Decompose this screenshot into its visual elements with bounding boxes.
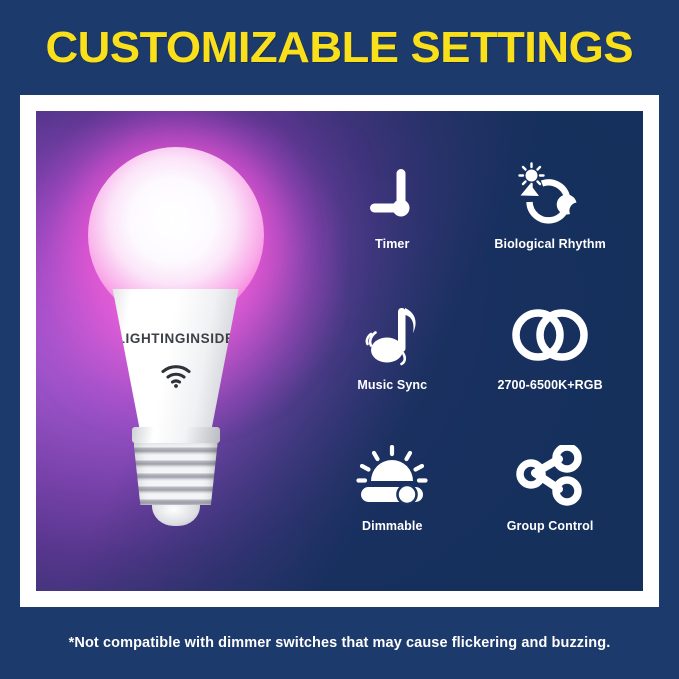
bulb-neck: LIGHTINGINSIDE <box>101 289 251 429</box>
bulb-collar <box>132 427 220 443</box>
clock-timer-icon <box>362 157 422 231</box>
brand-logo: LIGHTINGINSIDE <box>117 331 235 346</box>
page-title: CUSTOMIZABLE SETTINGS <box>46 23 634 73</box>
smart-bulb: LIGHTINGINSIDE <box>88 147 264 526</box>
feature-group-control[interactable]: Group Control <box>471 416 629 557</box>
feature-color-temperature[interactable]: 2700-6500K+RGB <box>471 274 629 415</box>
disclaimer-text: *Not compatible with dimmer switches tha… <box>69 635 611 651</box>
feature-grid: Timer <box>313 111 629 591</box>
feature-label: 2700-6500K+RGB <box>497 378 602 392</box>
feature-dimmable[interactable]: Dimmable <box>313 416 471 557</box>
product-card-frame: LIGHTINGINSIDE <box>20 95 659 607</box>
feature-music-sync[interactable]: Music Sync <box>313 274 471 415</box>
feature-label: Biological Rhythm <box>494 237 605 251</box>
music-note-icon <box>361 298 423 372</box>
footer: *Not compatible with dimmer switches tha… <box>0 607 679 679</box>
bulb-base <box>132 427 220 526</box>
feature-label: Timer <box>375 237 409 251</box>
product-image: LIGHTINGINSIDE <box>36 111 315 591</box>
group-control-nodes-icon <box>515 439 585 513</box>
dimmable-sun-slider-icon <box>355 439 429 513</box>
headline-container: CUSTOMIZABLE SETTINGS <box>0 0 679 95</box>
feature-label: Dimmable <box>362 519 423 533</box>
biological-rhythm-icon <box>516 157 584 231</box>
bulb-threads <box>134 443 218 505</box>
wifi-icon <box>161 365 191 393</box>
poster: CUSTOMIZABLE SETTINGS LIGHTINGINSIDE <box>0 0 679 679</box>
feature-biological-rhythm[interactable]: Biological Rhythm <box>471 133 629 274</box>
feature-timer[interactable]: Timer <box>313 133 471 274</box>
overlapping-rings-icon <box>510 298 590 372</box>
feature-panel: LIGHTINGINSIDE <box>36 111 643 591</box>
bulb-tip <box>152 504 200 526</box>
feature-label: Music Sync <box>357 378 427 392</box>
feature-label: Group Control <box>507 519 594 533</box>
